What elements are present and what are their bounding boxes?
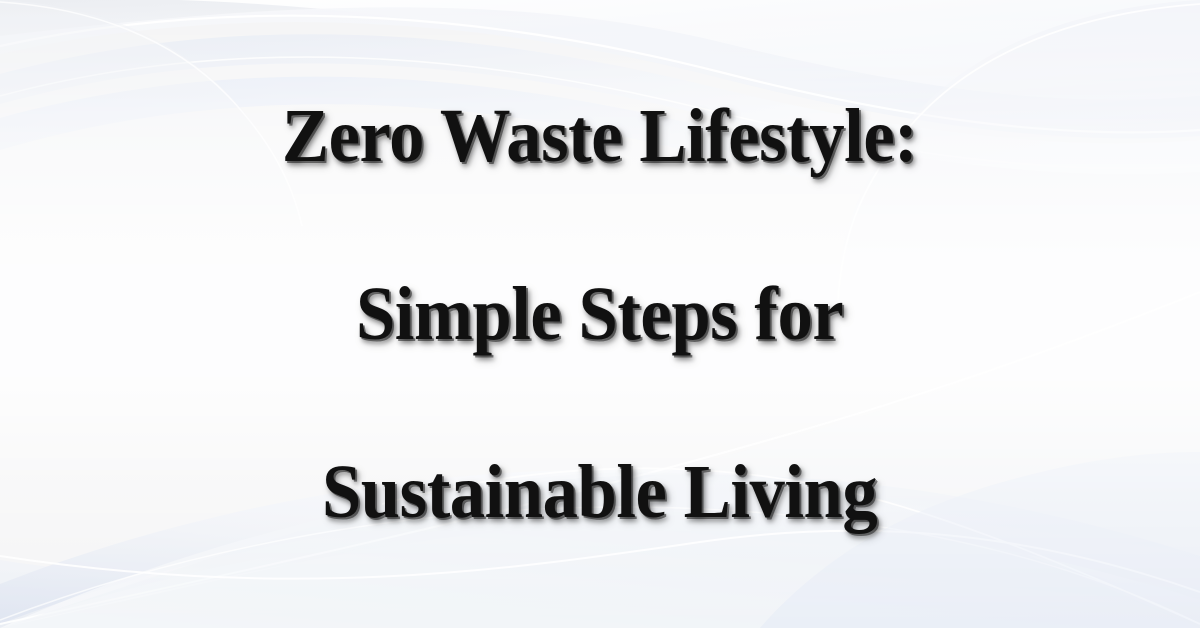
headline-block: Zero Waste Lifestyle: Simple Steps for S… <box>0 0 1200 628</box>
banner-canvas: Zero Waste Lifestyle: Simple Steps for S… <box>0 0 1200 628</box>
page-title: Zero Waste Lifestyle: Simple Steps for S… <box>226 3 973 626</box>
headline-line-2: Simple Steps for <box>282 270 917 359</box>
headline-line-1: Zero Waste Lifestyle: <box>282 92 917 181</box>
headline-line-3: Sustainable Living <box>282 448 917 537</box>
